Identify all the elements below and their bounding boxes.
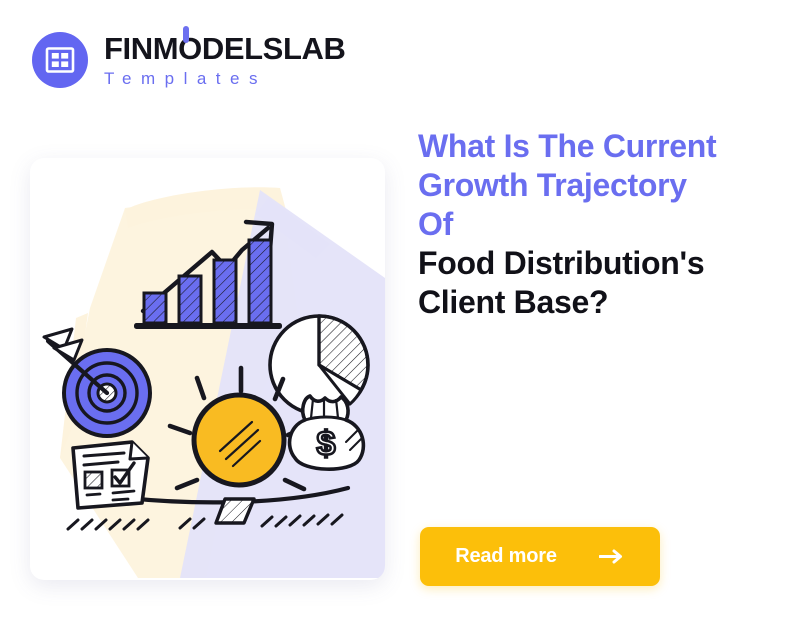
svg-text:$: $ xyxy=(317,425,336,463)
headline-accent-line-1: What Is The Current xyxy=(418,127,778,166)
brand-wordmark-text: FINMODELSLAB xyxy=(104,31,345,66)
headline-accent-line-2: Growth Trajectory xyxy=(418,166,778,205)
brand-header: FINMODELSLAB Templates xyxy=(32,32,345,88)
arrow-right-icon xyxy=(599,549,625,564)
headline-accent-line-3: Of xyxy=(418,205,778,244)
headline-block: What Is The Current Growth Trajectory Of… xyxy=(418,127,778,322)
document-with-checkmark-icon xyxy=(73,442,148,508)
page-title: What Is The Current Growth Trajectory Of… xyxy=(418,127,778,322)
headline-main-line-1: Food Distribution's xyxy=(418,244,778,283)
illustration-card: $ xyxy=(30,158,385,580)
grid-squares-icon xyxy=(45,45,75,75)
brand-wordmark: FINMODELSLAB xyxy=(104,33,345,64)
finmodelslab-logo-icon xyxy=(32,32,88,88)
read-more-label: Read more xyxy=(455,545,557,568)
pie-chart-icon xyxy=(270,316,368,414)
brand-tagline: Templates xyxy=(104,70,345,87)
headline-main-line-2: Client Base? xyxy=(418,283,778,322)
brand-text-block: FINMODELSLAB Templates xyxy=(104,33,345,87)
power-pin-icon xyxy=(183,26,189,43)
read-more-button[interactable]: Read more xyxy=(420,527,660,586)
business-growth-illustration: $ xyxy=(30,158,385,580)
